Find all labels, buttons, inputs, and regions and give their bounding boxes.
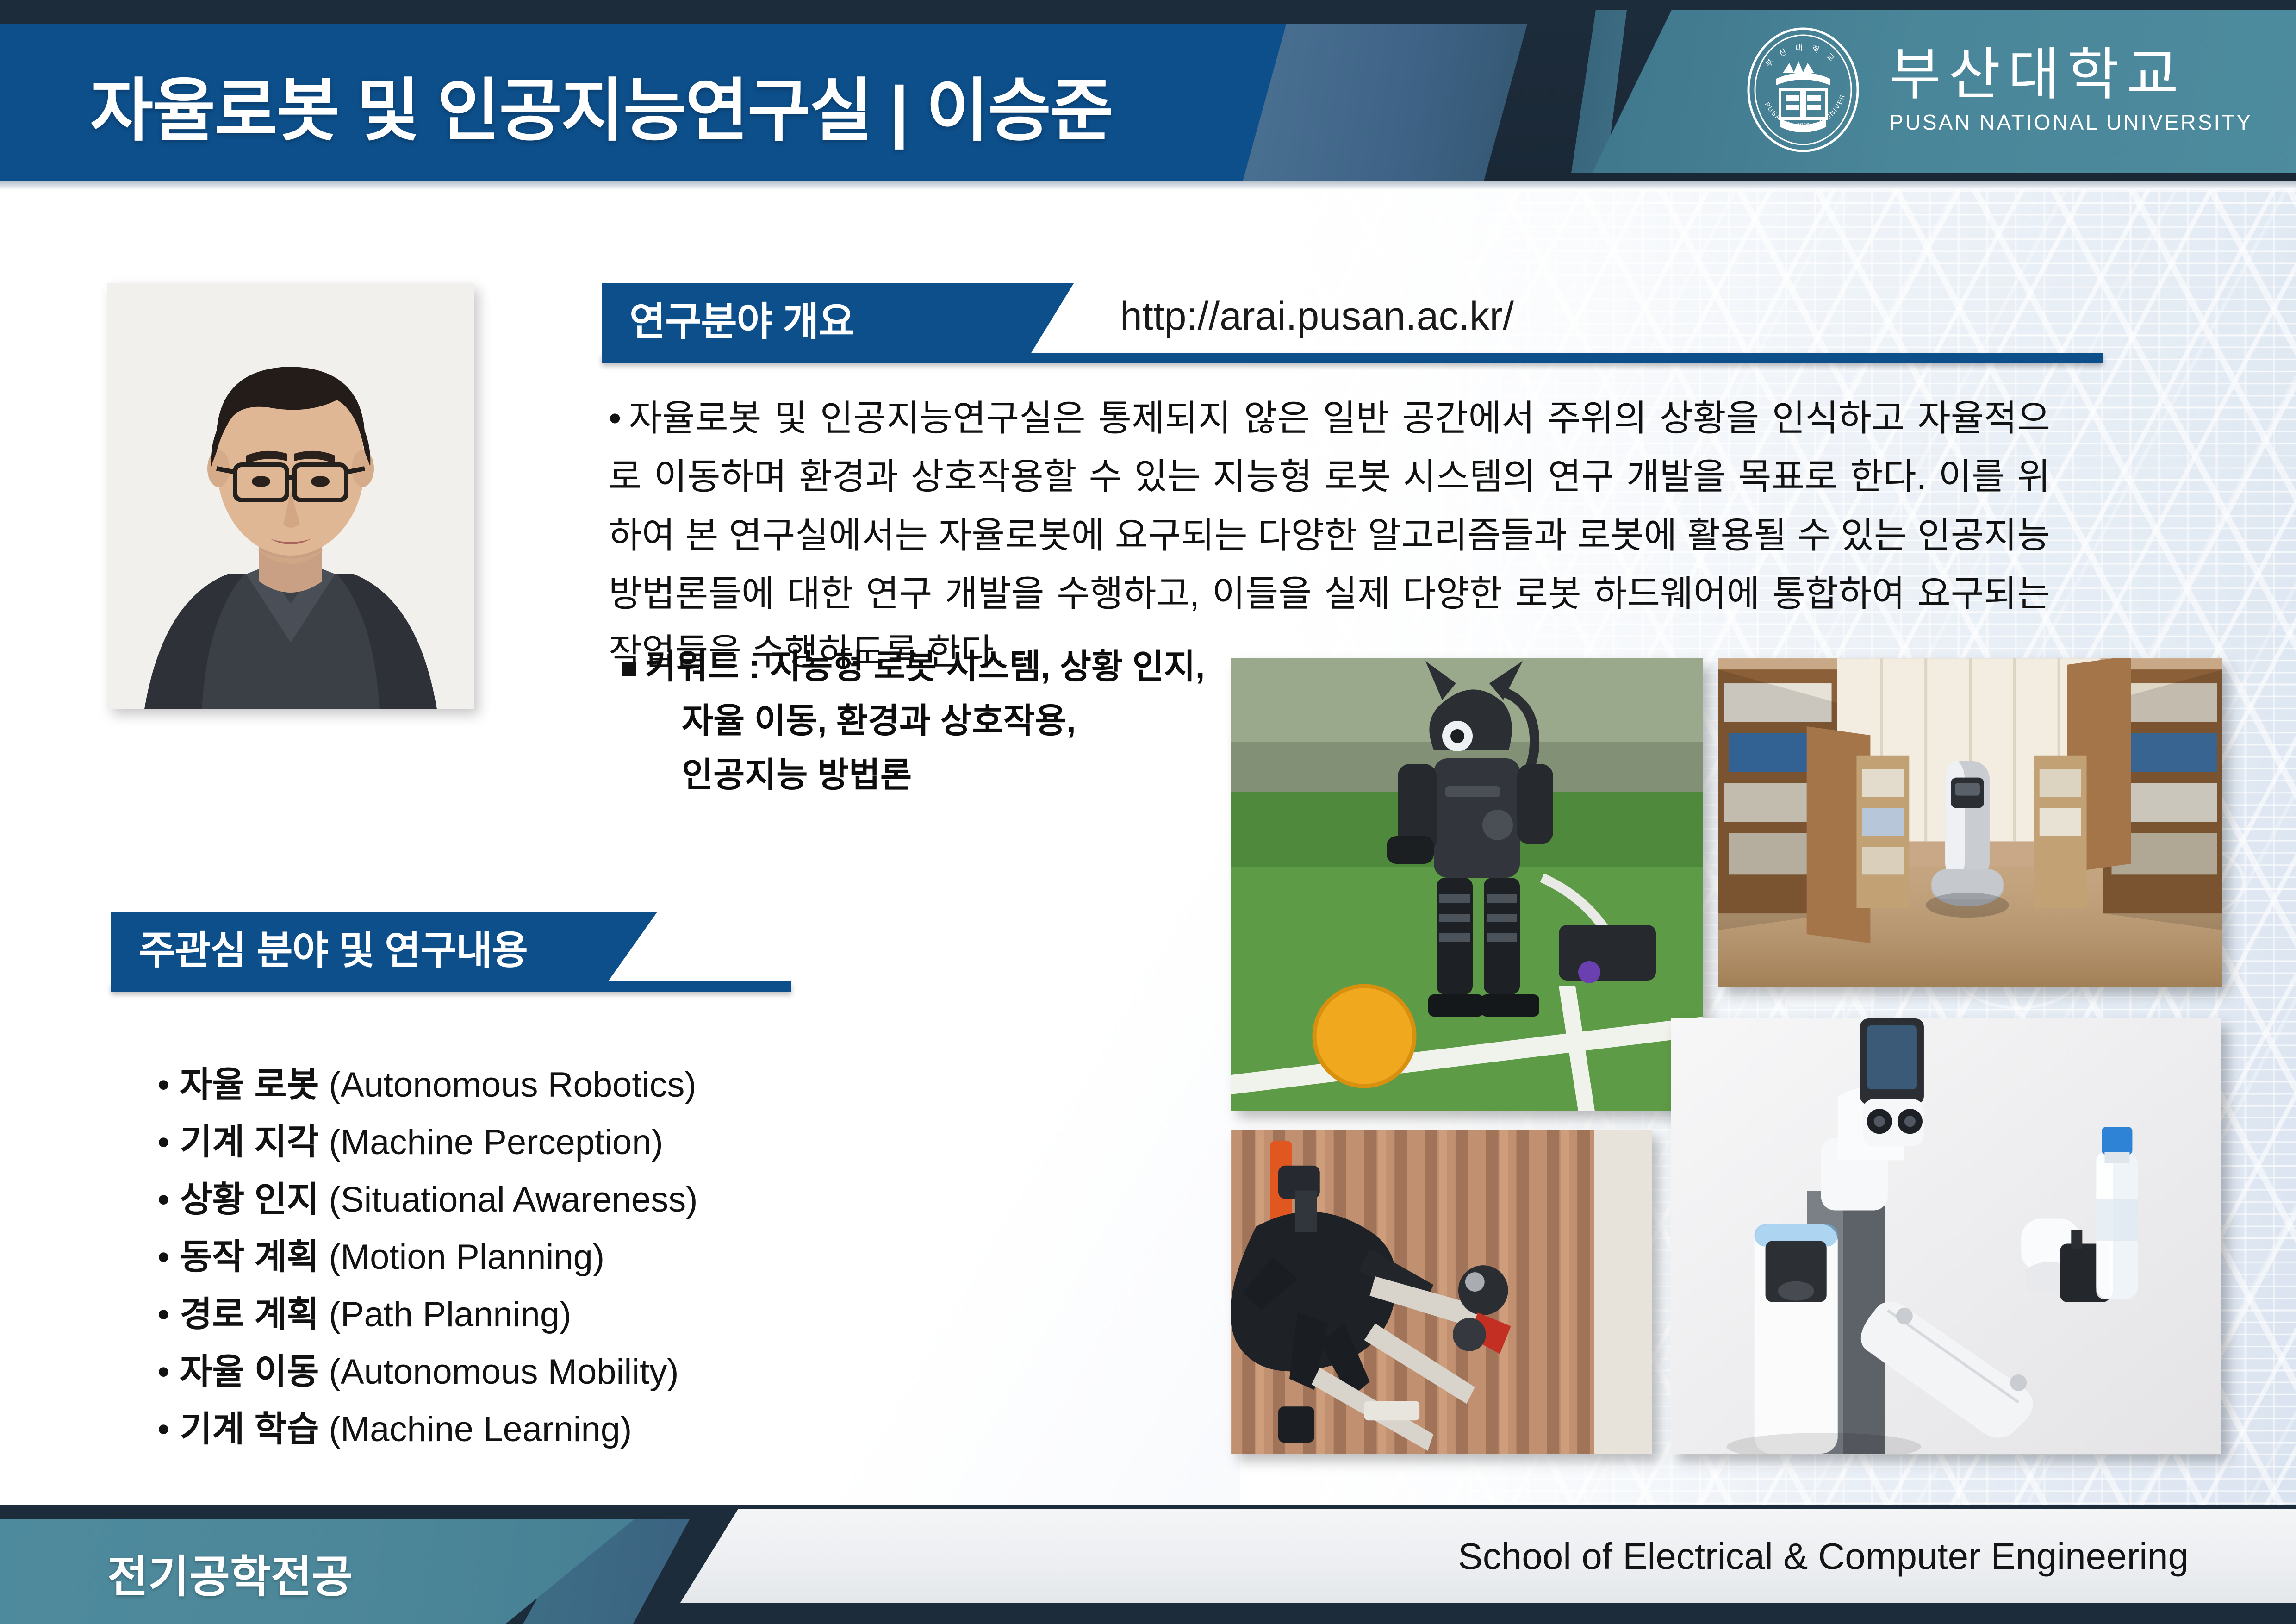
list-item: •경로 계획 (Path Planning)	[157, 1297, 698, 1332]
section-tab-overview-label: 연구분야 개요	[629, 290, 854, 347]
section-tab-research-label: 주관심 분야 및 연구내용	[139, 918, 528, 975]
list-item-en: (Autonomous Robotics)	[329, 1065, 697, 1105]
keywords-square-icon	[622, 662, 636, 676]
list-bullet-icon: •	[157, 1123, 170, 1162]
mobile-manipulator-bottle-photo	[1671, 1018, 2221, 1454]
keywords-block: 키워드 : 지능형 로봇 시스템, 상황 인지, 자율 이동, 환경과 상호작용…	[622, 640, 1270, 802]
svg-text:부 산 대 학 교: 부 산 대 학 교	[1764, 43, 1838, 69]
university-name-en: PUSAN NATIONAL UNIVERSITY	[1889, 110, 2252, 135]
university-wordmark: 부산대학교 PUSAN NATIONAL UNIVERSITY	[1889, 45, 2252, 135]
list-item-kr: 동작 계획	[180, 1237, 319, 1277]
list-item-kr: 자율 이동	[180, 1352, 319, 1392]
page-footer: 전기공학전공 School of Electrical & Computer E…	[0, 1505, 2296, 1624]
keywords-label: 키워드 :	[645, 647, 760, 686]
list-bullet-icon: •	[157, 1180, 170, 1219]
list-item: •자율 이동 (Autonomous Mobility)	[157, 1355, 698, 1390]
list-item-kr: 기계 지각	[180, 1123, 319, 1162]
university-name-kr: 부산대학교	[1889, 45, 2252, 104]
section-research: 주관심 분야 및 연구내용	[111, 912, 657, 981]
section-tab-overview[interactable]: 연구분야 개요	[602, 283, 1074, 353]
list-item: •기계 지각 (Machine Perception)	[157, 1125, 698, 1160]
keywords-line-3: 인공지능 방법론	[622, 748, 1270, 802]
section-overview: 연구분야 개요 http://arai.pusan.ac.kr/	[602, 283, 1074, 353]
university-seal-icon: 1946 부 산 대 학 교 PUSAN NATIONAL UNIVERSITY	[1740, 27, 1866, 153]
section-rule-overview	[602, 353, 2103, 363]
list-item-en: (Machine Learning)	[329, 1410, 632, 1449]
research-area-list: •자율 로봇 (Autonomous Robotics) •기계 지각 (Mac…	[139, 1068, 698, 1469]
list-item: •상황 인지 (Situational Awareness)	[157, 1182, 698, 1218]
list-bullet-icon: •	[157, 1352, 170, 1392]
lab-website-link[interactable]: http://arai.pusan.ac.kr/	[1120, 294, 1514, 339]
list-item-en: (Path Planning)	[329, 1295, 572, 1334]
humanoid-soccer-robot-photo	[1231, 658, 1703, 1111]
climbing-legged-robot-photo	[1231, 1130, 1652, 1454]
poster-slide: 자율로봇 및 인공지능연구실 | 이승준 1946	[0, 0, 2296, 1624]
paragraph-bullet-icon: •	[609, 398, 621, 438]
footer-school-label: School of Electrical & Computer Engineer…	[1458, 1535, 2189, 1578]
list-item: •기계 학습 (Machine Learning)	[157, 1412, 698, 1447]
section-rule-research	[111, 981, 791, 992]
keywords-line-2: 자율 이동, 환경과 상호작용,	[622, 694, 1270, 748]
list-item: •동작 계획 (Motion Planning)	[157, 1240, 698, 1275]
list-item-kr: 자율 로봇	[180, 1065, 319, 1105]
footer-department-label: 전기공학전공	[107, 1541, 353, 1605]
header-accent-band	[1240, 24, 1527, 190]
list-item: •자율 로봇 (Autonomous Robotics)	[157, 1068, 698, 1103]
overview-paragraph: •자율로봇 및 인공지능연구실은 통제되지 않은 일반 공간에서 주위의 상황을…	[609, 389, 2050, 681]
list-item-en: (Motion Planning)	[329, 1237, 605, 1277]
list-bullet-icon: •	[157, 1410, 170, 1449]
list-item-kr: 경로 계획	[180, 1295, 319, 1334]
list-item-en: (Machine Perception)	[329, 1123, 663, 1162]
university-logo: 1946 부 산 대 학 교 PUSAN NATIONAL UNIVERSITY…	[1740, 27, 2252, 153]
professor-portrait-photo	[107, 283, 474, 709]
list-item-en: (Situational Awareness)	[329, 1180, 698, 1219]
list-item-kr: 기계 학습	[180, 1410, 319, 1449]
keywords-line-1: 지능형 로봇 시스템, 상황 인지,	[770, 647, 1205, 686]
library-service-robot-photo	[1718, 658, 2222, 987]
section-tab-research[interactable]: 주관심 분야 및 연구내용	[111, 912, 657, 981]
page-header: 자율로봇 및 인공지능연구실 | 이승준 1946	[0, 0, 2296, 190]
list-item-en: (Autonomous Mobility)	[329, 1352, 679, 1392]
page-title: 자율로봇 및 인공지능연구실 | 이승준	[90, 55, 1112, 154]
list-bullet-icon: •	[157, 1237, 170, 1277]
list-item-kr: 상황 인지	[180, 1180, 319, 1219]
header-bottom-rule	[0, 181, 2296, 190]
paragraph-text: 자율로봇 및 인공지능연구실은 통제되지 않은 일반 공간에서 주위의 상황을 …	[609, 398, 2050, 672]
list-bullet-icon: •	[157, 1065, 170, 1105]
list-bullet-icon: •	[157, 1295, 170, 1334]
